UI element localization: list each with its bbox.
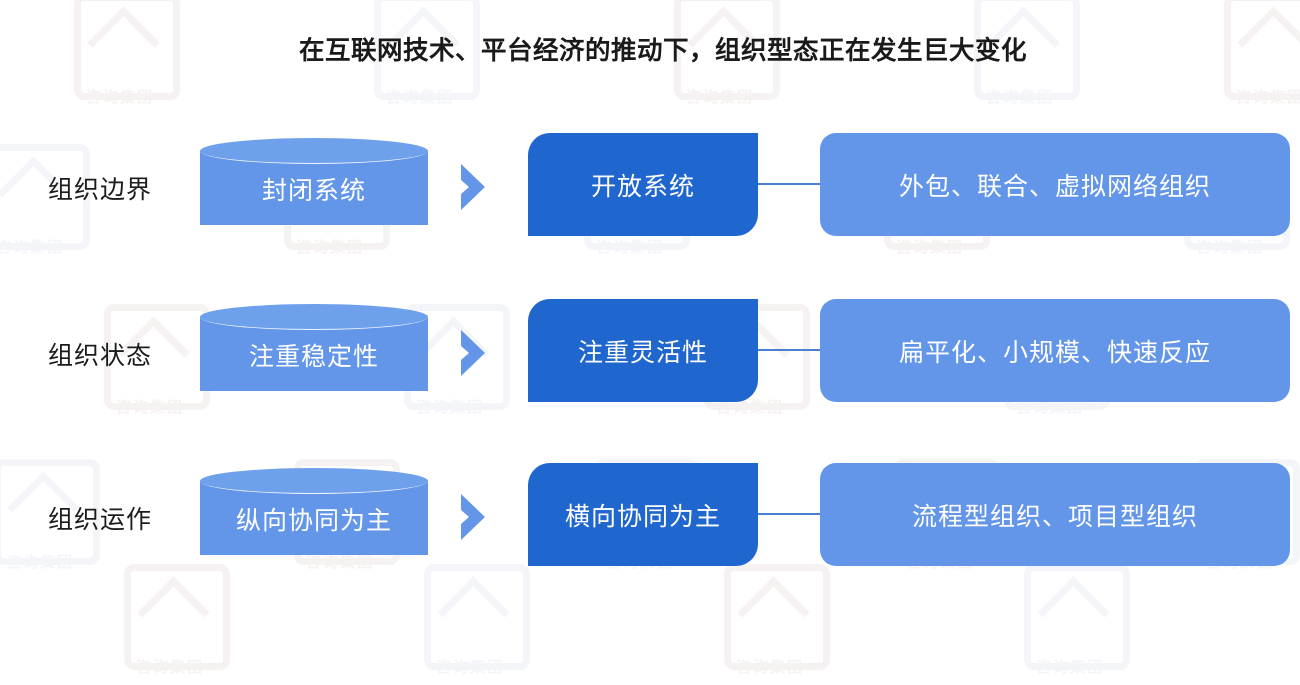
diagram-row: 组织运作 纵向协同为主 横向协同为主 流程型组织、项目型组织: [0, 463, 1300, 573]
row-label-organization-boundary: 组织边界: [10, 133, 190, 243]
box-detail[interactable]: 扁平化、小规模、快速反应: [820, 299, 1290, 402]
box-target-state[interactable]: 注重灵活性: [528, 299, 758, 402]
box-detail[interactable]: 外包、联合、虚拟网络组织: [820, 133, 1290, 236]
cylinder-current-state[interactable]: 注重稳定性: [200, 304, 428, 404]
row-label-organization-state: 组织状态: [10, 299, 190, 409]
chevron-right-icon: [455, 491, 501, 543]
page-title: 在互联网技术、平台经济的推动下，组织型态正在发生巨大变化: [0, 30, 1300, 67]
diagram-row: 组织状态 注重稳定性 注重灵活性 扁平化、小规模、快速反应: [0, 299, 1300, 409]
row-label-organization-operation: 组织运作: [10, 463, 190, 573]
cylinder-label: 纵向协同为主: [200, 488, 428, 550]
cylinder-current-state[interactable]: 封闭系统: [200, 138, 428, 238]
diagram-canvas: 在互联网技术、平台经济的推动下，组织型态正在发生巨大变化 组织边界 封闭系统 开…: [0, 0, 1300, 644]
cylinder-current-state[interactable]: 纵向协同为主: [200, 468, 428, 568]
cylinder-label: 注重稳定性: [200, 324, 428, 386]
connector-line: [758, 183, 820, 185]
cylinder-label: 封闭系统: [200, 158, 428, 220]
box-target-state[interactable]: 开放系统: [528, 133, 758, 236]
connector-line: [758, 513, 820, 515]
diagram-row: 组织边界 封闭系统 开放系统 外包、联合、虚拟网络组织: [0, 133, 1300, 243]
connector-line: [758, 349, 820, 351]
box-detail[interactable]: 流程型组织、项目型组织: [820, 463, 1290, 566]
box-target-state[interactable]: 横向协同为主: [528, 463, 758, 566]
chevron-right-icon: [455, 161, 501, 213]
chevron-right-icon: [455, 327, 501, 379]
